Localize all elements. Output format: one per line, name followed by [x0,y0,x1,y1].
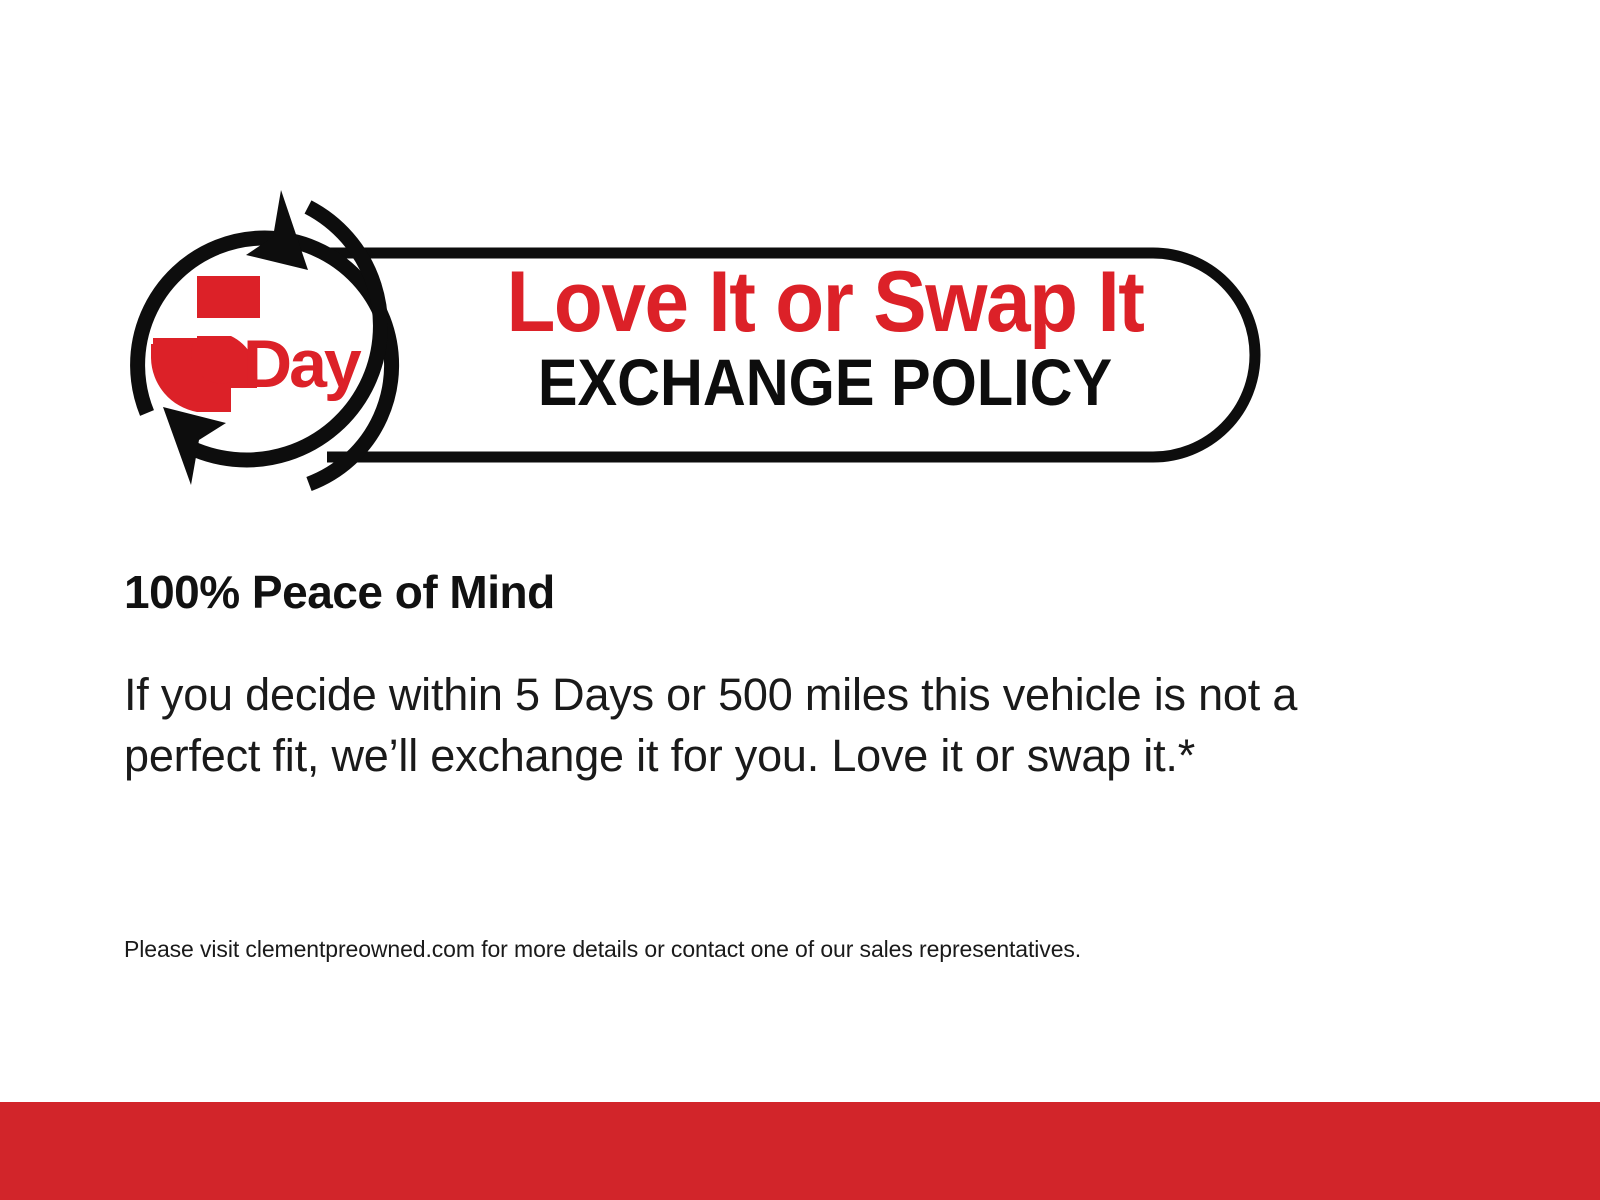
bottom-accent-bar [0,1102,1600,1200]
subhead-peace-of-mind: 100% Peace of Mind [124,567,555,618]
badge-artwork [95,185,1285,495]
exchange-policy-graphic: Day Love It or Swap It EXCHANGE POLICY 1… [0,0,1600,1200]
arrow-head-counterclockwise-icon [163,407,226,485]
body-paragraph: If you decide within 5 Days or 500 miles… [124,664,1334,786]
exchange-arc-upper [138,238,392,484]
rounded-capsule-outline [327,253,1255,457]
arrow-head-clockwise-icon [246,190,308,270]
badge-lockup: Day Love It or Swap It EXCHANGE POLICY [95,185,1285,495]
footnote-disclaimer: Please visit clementpreowned.com for mor… [124,935,1454,965]
